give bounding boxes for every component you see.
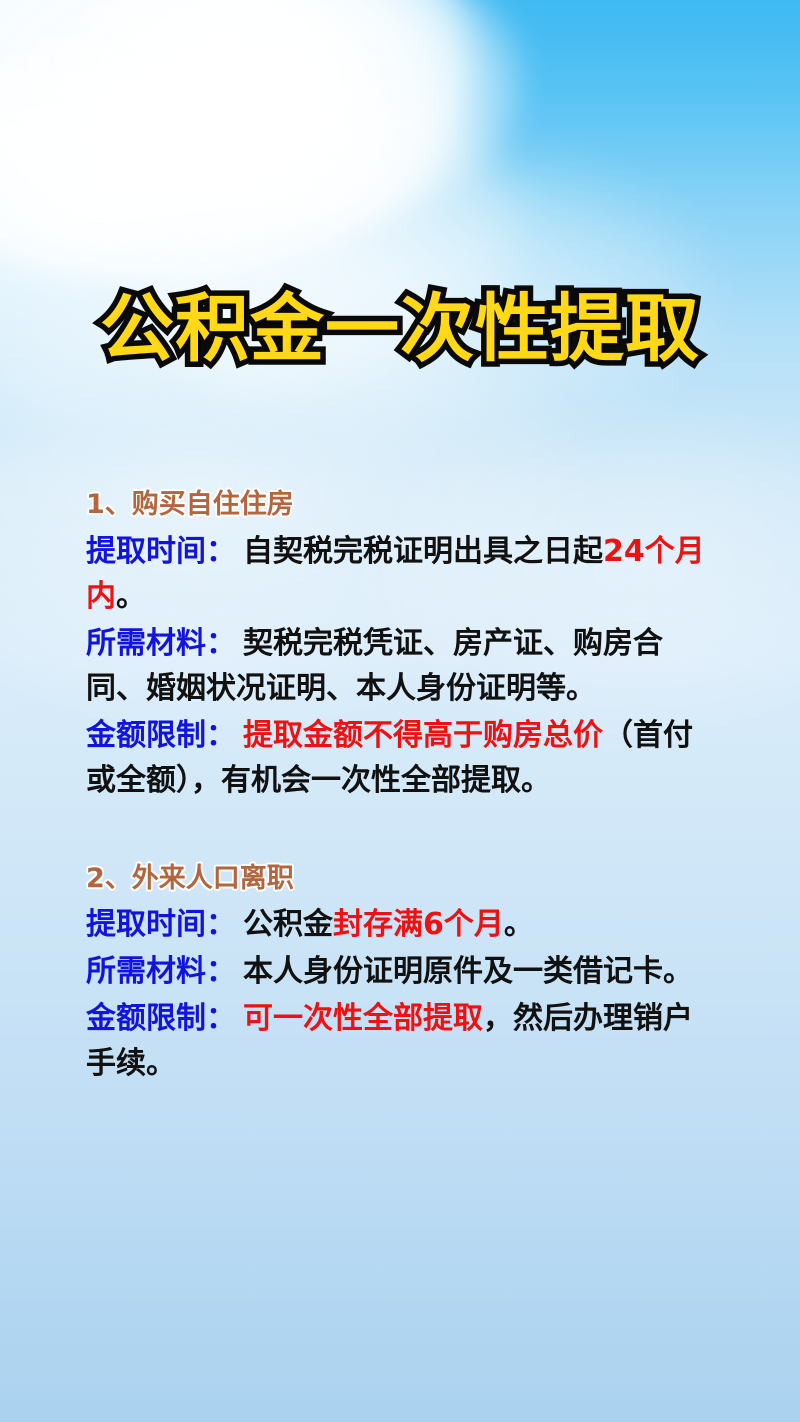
entry-text: 。	[504, 907, 534, 942]
section-nonlocal-resignation: 2、外来人口离职 提取时间：公积金封存满6个月。 所需材料：本人身份证明原件及一…	[86, 861, 710, 1087]
entry-label: 金额限制：	[86, 718, 236, 753]
entry-label: 提取时间：	[86, 907, 236, 942]
entry-highlight: 封存满6个月	[333, 907, 504, 942]
entry-required-materials: 所需材料：契税完税凭证、房产证、购房合同、婚姻状况证明、本人身份证明等。	[86, 621, 710, 711]
cloud-shape	[60, 0, 520, 230]
poster-canvas: 公积金一次性提取 1、购买自住住房 提取时间：自契税完税证明出具之日起24个月内…	[0, 0, 800, 1422]
entry-withdrawal-time: 提取时间：公积金封存满6个月。	[86, 902, 710, 947]
entry-label: 所需材料：	[86, 626, 236, 661]
title-container: 公积金一次性提取	[0, 292, 800, 366]
entry-required-materials: 所需材料：本人身份证明原件及一类借记卡。	[86, 949, 710, 994]
entry-label: 所需材料：	[86, 954, 236, 989]
entry-text: 自契税完税证明出具之日起	[243, 534, 603, 569]
entry-amount-limit: 金额限制：可一次性全部提取，然后办理销户手续。	[86, 996, 710, 1086]
entry-text: 。	[116, 579, 146, 614]
content-body: 1、购买自住住房 提取时间：自契税完税证明出具之日起24个月内。 所需材料：契税…	[86, 487, 710, 1088]
entry-amount-limit: 金额限制：提取金额不得高于购房总价（首付或全额），有机会一次性全部提取。	[86, 713, 710, 803]
cloud-shape	[0, 0, 470, 280]
section-heading: 1、购买自住住房	[86, 487, 710, 523]
entry-highlight: 可一次性全部提取	[243, 1001, 483, 1036]
entry-label: 金额限制：	[86, 1001, 236, 1036]
section-purchase-home: 1、购买自住住房 提取时间：自契税完税证明出具之日起24个月内。 所需材料：契税…	[86, 487, 710, 803]
entry-label: 提取时间：	[86, 534, 236, 569]
section-heading: 2、外来人口离职	[86, 861, 710, 897]
entry-withdrawal-time: 提取时间：自契税完税证明出具之日起24个月内。	[86, 529, 710, 619]
entry-text: 本人身份证明原件及一类借记卡。	[243, 954, 693, 989]
entry-highlight: 提取金额不得高于购房总价	[243, 718, 603, 753]
page-title: 公积金一次性提取	[100, 292, 700, 366]
entry-text: 公积金	[243, 907, 333, 942]
